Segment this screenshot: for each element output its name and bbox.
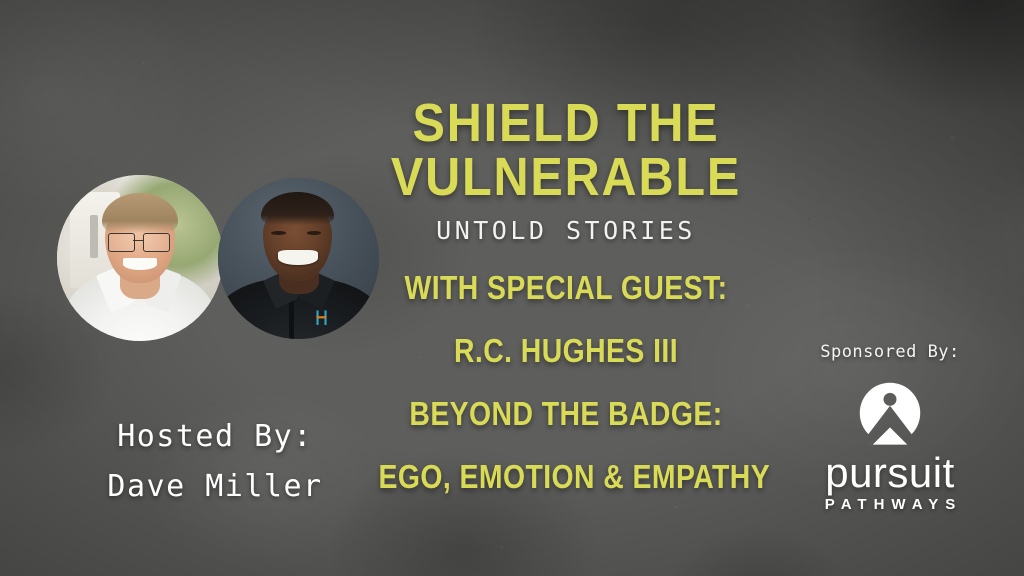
guest-line-name: R.C. HUGHES III <box>379 334 754 367</box>
headshot-group <box>50 170 390 365</box>
host-photo-glasses-left <box>108 233 135 252</box>
sponsor-block: Sponsored By: pursuit PATHWAYS <box>780 342 1000 513</box>
pursuit-pathways-mountain-figure-icon <box>854 377 926 449</box>
guest-photo-smile <box>278 250 318 264</box>
sponsor-logo <box>780 377 1000 449</box>
show-title-line-1: SHIELD THE <box>370 96 762 150</box>
show-title-line-2: VULNERABLE <box>370 150 762 204</box>
podcast-promo-graphic: Hosted By: Dave Miller SHIELD THE VULNER… <box>0 0 1024 576</box>
guest-line-with-special-guest: WITH SPECIAL GUEST: <box>379 271 754 304</box>
guest-line-topic-title: BEYOND THE BADGE: <box>379 397 754 430</box>
host-photo-glasses-bridge <box>133 240 143 242</box>
guest-photo-eye-left <box>271 231 285 235</box>
show-subtitle: UNTOLD STORIES <box>348 216 784 245</box>
guest-line-topic-subtitle: EGO, EMOTION & EMPATHY <box>379 460 754 493</box>
guest-info-block: WITH SPECIAL GUEST: R.C. HUGHES III BEYO… <box>348 271 784 493</box>
sponsor-name-secondary: PATHWAYS <box>780 496 1000 513</box>
guest-photo-placket <box>289 297 295 339</box>
sponsor-name-primary: pursuit <box>780 451 1000 495</box>
guest-photo-shirt-logo-icon <box>315 308 329 327</box>
avatar-guest-rc-hughes <box>218 178 379 339</box>
host-photo-glasses-right <box>143 233 170 252</box>
host-photo-smile <box>123 258 156 270</box>
avatar-host-dave-miller <box>57 175 223 341</box>
title-block: SHIELD THE VULNERABLE UNTOLD STORIES WIT… <box>348 96 784 493</box>
host-photo-window-bar <box>90 215 98 258</box>
sponsored-by-label: Sponsored By: <box>780 342 1000 362</box>
guest-photo-eye-right <box>307 231 321 235</box>
